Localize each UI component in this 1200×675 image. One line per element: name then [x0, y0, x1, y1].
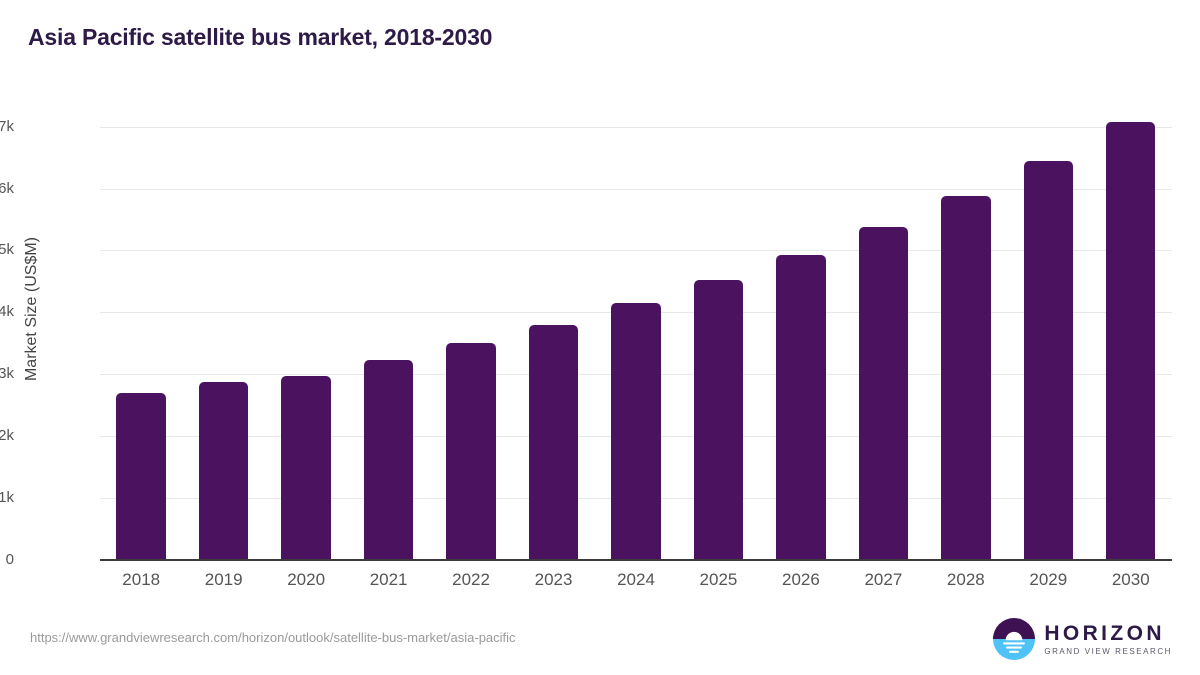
y-axis-tick-label: 2k: [0, 427, 14, 444]
x-axis-tick-label: 2027: [864, 570, 902, 590]
gridline: [100, 250, 1172, 251]
source-url[interactable]: https://www.grandviewresearch.com/horizo…: [30, 630, 516, 645]
gridline: [100, 127, 1172, 128]
gridline: [100, 189, 1172, 190]
x-axis-tick-label: 2026: [782, 570, 820, 590]
y-axis-tick-label: 1k: [0, 489, 14, 506]
x-axis-tick-label: 2025: [700, 570, 738, 590]
logo-tagline: GRAND VIEW RESEARCH: [1044, 648, 1172, 656]
y-axis-tick-label: 3k: [0, 365, 14, 382]
bar[interactable]: [941, 196, 990, 560]
y-axis-tick-label: 0: [0, 551, 14, 568]
x-axis-tick-label: 2029: [1029, 570, 1067, 590]
chart-page: Asia Pacific satellite bus market, 2018-…: [0, 0, 1200, 675]
horizon-logo[interactable]: HORIZON GRAND VIEW RESEARCH: [993, 616, 1172, 662]
x-axis-tick-label: 2028: [947, 570, 985, 590]
x-axis-tick-label: 2024: [617, 570, 655, 590]
bar[interactable]: [446, 343, 495, 560]
bar[interactable]: [776, 255, 825, 560]
x-axis-tick-label: 2022: [452, 570, 490, 590]
x-axis-tick-label: 2018: [122, 570, 160, 590]
bar[interactable]: [529, 325, 578, 560]
bar[interactable]: [1106, 122, 1155, 560]
bar[interactable]: [694, 280, 743, 560]
bar[interactable]: [1024, 161, 1073, 560]
logo-wordmark: HORIZON: [1044, 623, 1172, 644]
x-axis-tick-label: 2023: [535, 570, 573, 590]
horizon-sun-circle-icon: [993, 618, 1035, 660]
y-axis-tick-label: 7k: [0, 118, 14, 135]
bar[interactable]: [199, 382, 248, 560]
y-axis-tick-label: 6k: [0, 180, 14, 197]
y-axis-tick-label: 4k: [0, 303, 14, 320]
x-axis-tick-label: 2019: [205, 570, 243, 590]
bar[interactable]: [364, 360, 413, 560]
x-axis-tick-label: 2021: [370, 570, 408, 590]
bar[interactable]: [859, 227, 908, 560]
plot-area: [100, 105, 1172, 560]
chart-container: Market Size (US$M) 01k2k3k4k5k6k7k 20182…: [0, 0, 1200, 675]
x-axis-line: [100, 559, 1172, 561]
bar[interactable]: [281, 376, 330, 560]
bar[interactable]: [611, 303, 660, 560]
logo-text: HORIZON GRAND VIEW RESEARCH: [1044, 623, 1172, 656]
bar[interactable]: [116, 393, 165, 560]
y-axis-title: Market Size (US$M): [23, 99, 41, 519]
y-axis-tick-label: 5k: [0, 241, 14, 258]
x-axis-tick-label: 2020: [287, 570, 325, 590]
x-axis-tick-label: 2030: [1112, 570, 1150, 590]
